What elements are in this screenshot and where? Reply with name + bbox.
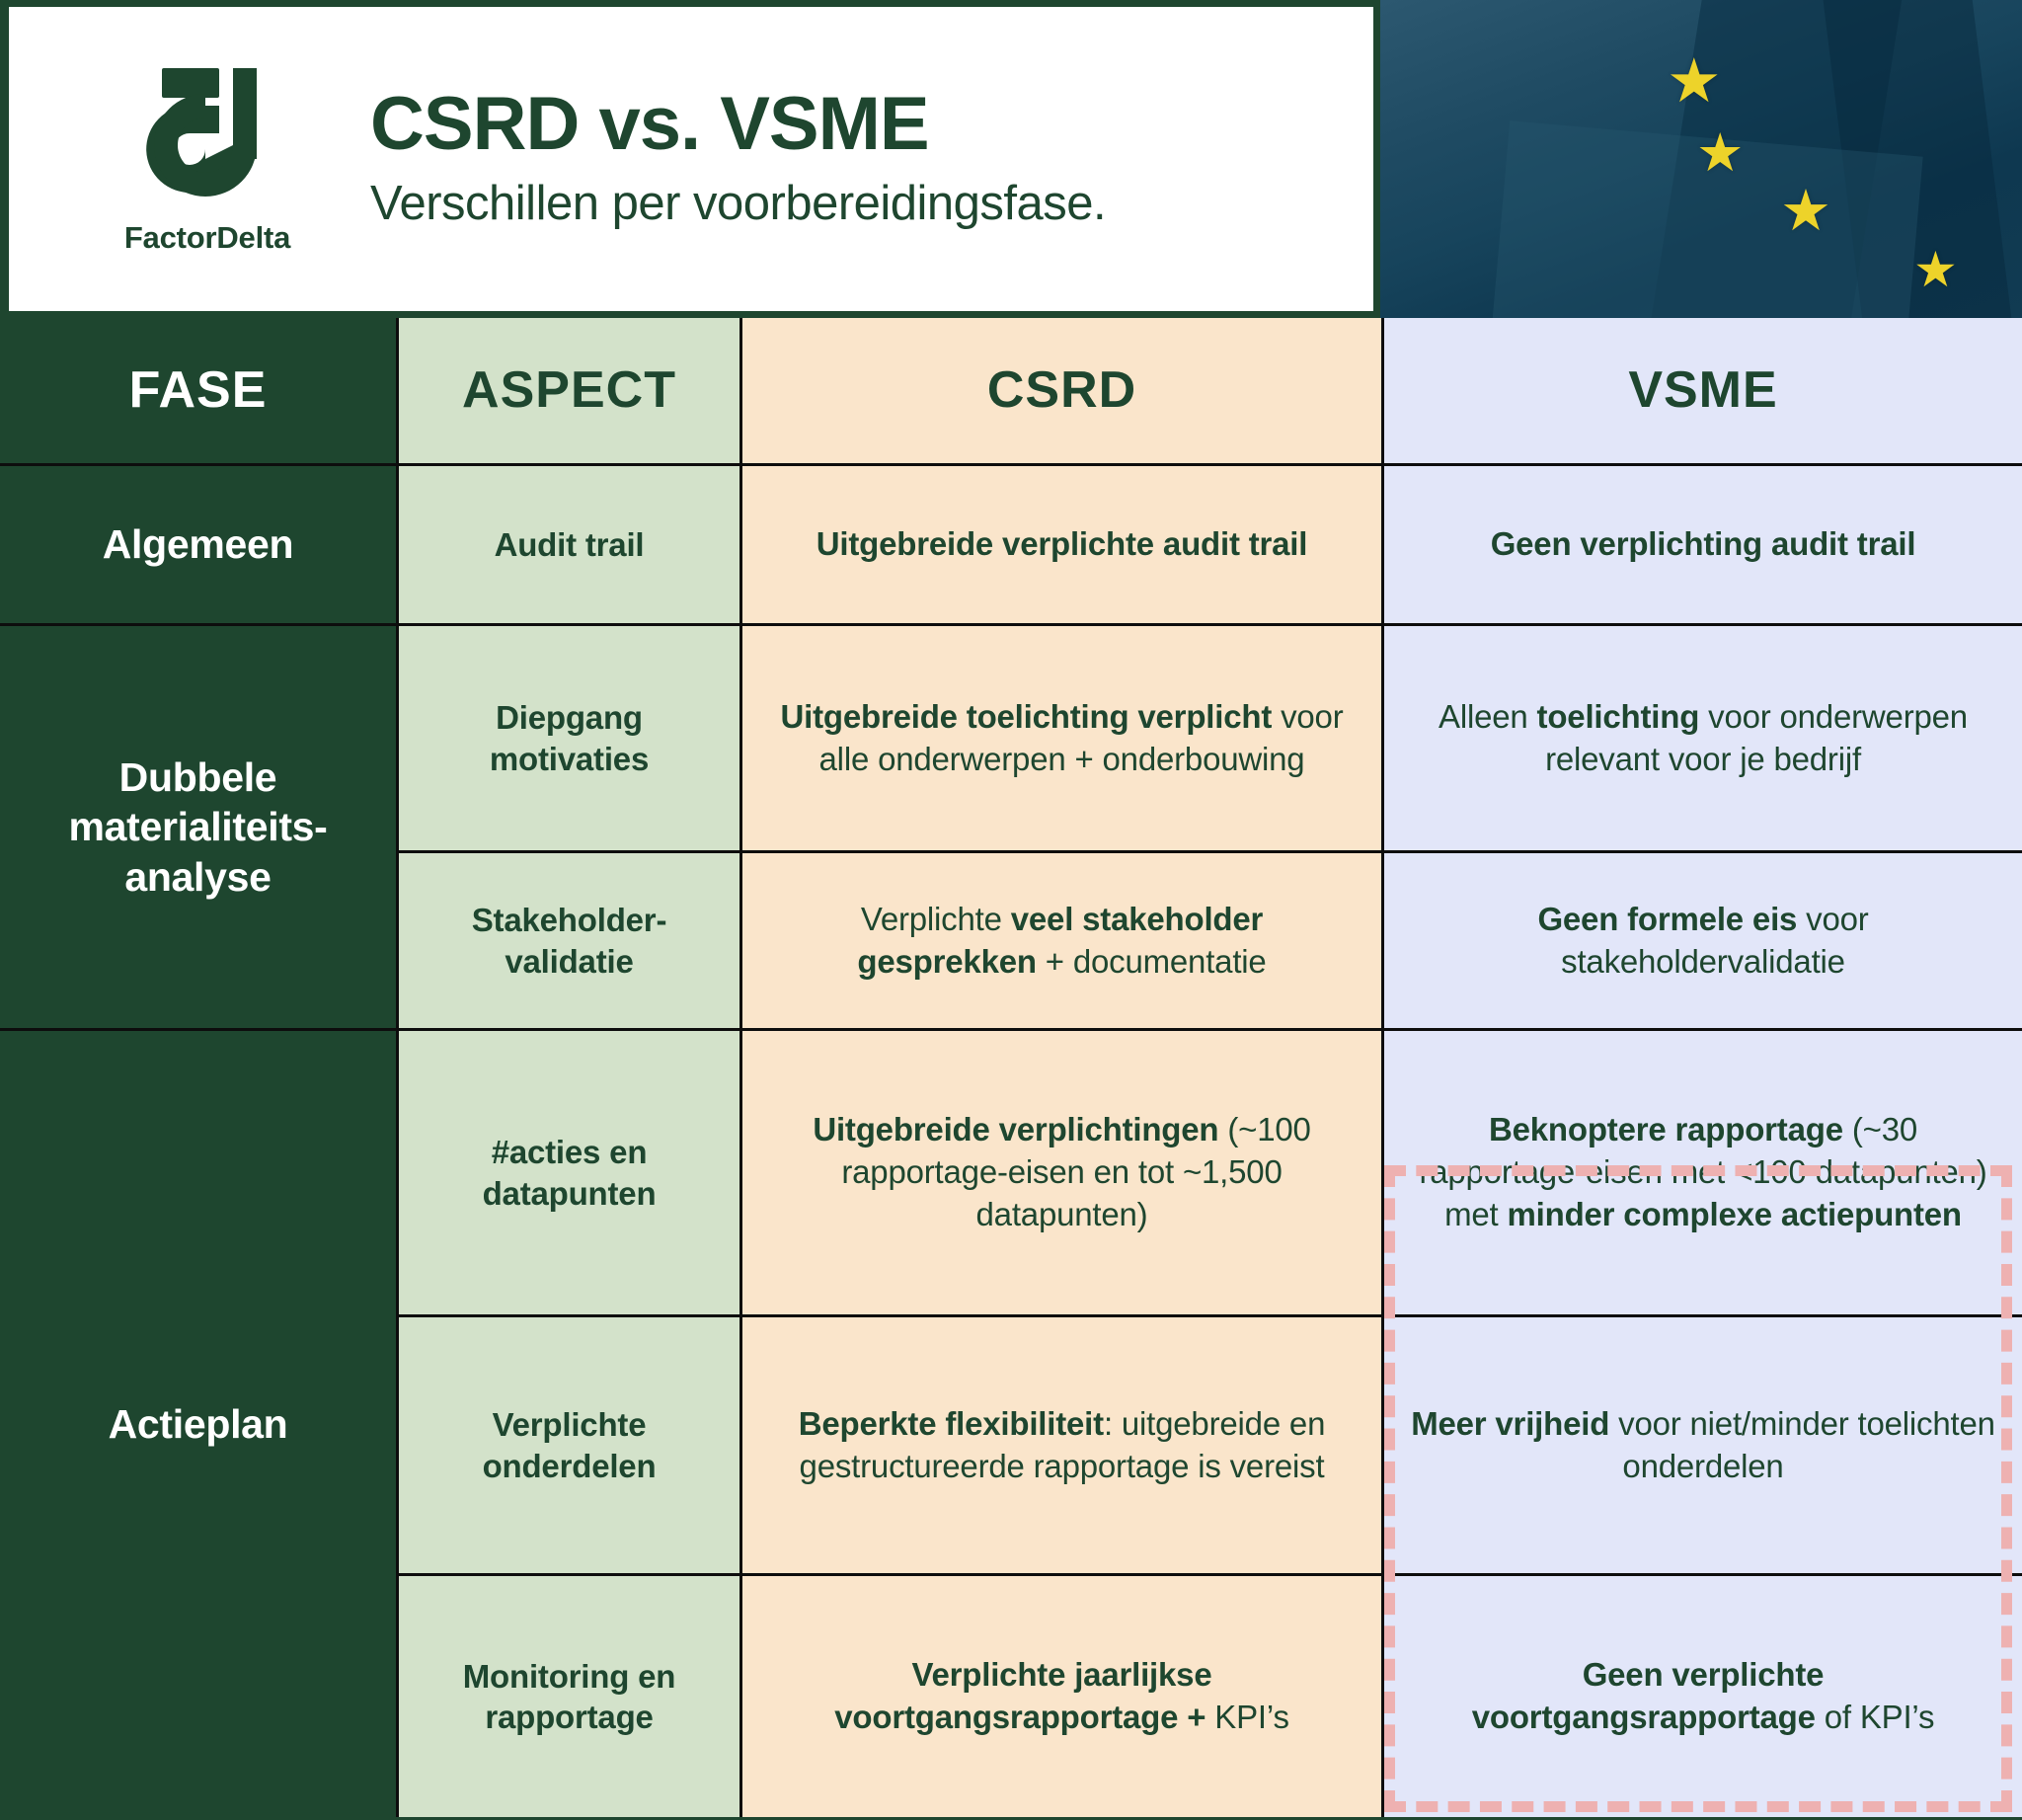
csrd-text: Uitgebreide verplichte audit trail [817, 523, 1307, 566]
aspect-label: Audit trail [495, 524, 645, 565]
phase-label-algemeen: Algemeen [0, 466, 399, 626]
column-header-csrd: CSRD [742, 318, 1384, 466]
csrd-cell: Verplichte veel stakeholder gesprekken +… [742, 853, 1384, 1031]
csrd-cell: Uitgebreide verplichte audit trail [742, 466, 1384, 626]
vsme-cell: Meer vrijheid voor niet/minder toelichte… [1384, 1317, 2022, 1576]
csrd-cell: Uitgebreide toelichting verplicht voor a… [742, 626, 1384, 853]
csrd-text: Uitgebreide verplichtingen (~100 rapport… [768, 1109, 1356, 1236]
brand-name: FactorDelta [124, 220, 290, 256]
aspect-cell: Audit trail [399, 466, 742, 626]
title-block: CSRD vs. VSME Verschillen per voorbereid… [370, 87, 1106, 231]
vsme-cell: Geen verplichte voortgangsrapportage of … [1384, 1576, 2022, 1817]
table-row: Diepgang motivaties Uitgebreide toelicht… [399, 626, 2022, 853]
aspect-cell: Diepgang motivaties [399, 626, 742, 853]
column-header-label: FASE [129, 357, 268, 424]
comparison-table: FASE ASPECT CSRD VSME Algemeen Audit tra… [0, 318, 2022, 1820]
column-header-fase: FASE [0, 318, 399, 466]
csrd-text: Uitgebreide toelichting verplicht voor a… [768, 696, 1356, 781]
brand-block: FactorDelta [104, 62, 311, 256]
column-header-label: VSME [1628, 357, 1777, 424]
phase-label-actieplan: Actieplan [0, 1031, 399, 1817]
column-header-label: ASPECT [462, 357, 676, 424]
eu-star-icon: ★ [1913, 245, 1958, 294]
phase-label-text: Algemeen [103, 519, 294, 569]
table-header-row: FASE ASPECT CSRD VSME [0, 318, 2022, 466]
eu-star-icon: ★ [1667, 51, 1722, 113]
table-row: Audit trail Uitgebreide verplichte audit… [399, 466, 2022, 626]
phase-block-dubbele-materialiteitsanalyse: Dubbele materialiteits-analyse Diepgang … [0, 626, 2022, 1031]
vsme-text: Geen verplichting audit trail [1491, 523, 1916, 566]
header-card: FactorDelta CSRD vs. VSME Verschillen pe… [0, 0, 1380, 318]
aspect-label: Monitoring en rapportage [425, 1656, 714, 1738]
csrd-text: Beperkte flexibiliteit: uitgebreide en g… [768, 1403, 1356, 1488]
vsme-cell: Beknoptere rapportage (~30 rapportage-ei… [1384, 1031, 2022, 1317]
eu-flag-photo: ★ ★ ★ ★ [1380, 0, 2022, 318]
column-header-vsme: VSME [1384, 318, 2022, 466]
aspect-label: Verplichte onderdelen [425, 1404, 714, 1486]
column-header-aspect: ASPECT [399, 318, 742, 466]
table-row: #acties en datapunten Uitgebreide verpli… [399, 1031, 2022, 1317]
csrd-cell: Verplichte jaarlijkse voortgangsrapporta… [742, 1576, 1384, 1817]
csrd-text: Verplichte jaarlijkse voortgangsrapporta… [768, 1654, 1356, 1739]
table-row: Verplichte onderdelen Beperkte flexibili… [399, 1317, 2022, 1576]
header-band: FactorDelta CSRD vs. VSME Verschillen pe… [0, 0, 2022, 318]
phase-block-actieplan: Actieplan #acties en datapunten Uitgebre… [0, 1031, 2022, 1817]
aspect-cell: Stakeholder-validatie [399, 853, 742, 1031]
vsme-cell: Geen formele eis voor stakeholdervalidat… [1384, 853, 2022, 1031]
page-subtitle: Verschillen per voorbereidingsfase. [370, 178, 1106, 231]
vsme-text: Geen formele eis voor stakeholdervalidat… [1410, 899, 1996, 984]
aspect-label: #acties en datapunten [425, 1132, 714, 1214]
phase-label-text: Dubbele materialiteits-analyse [20, 752, 376, 901]
column-header-label: CSRD [987, 357, 1136, 424]
phase-label-dubbele-materialiteitsanalyse: Dubbele materialiteits-analyse [0, 626, 399, 1031]
aspect-label: Stakeholder-validatie [425, 900, 714, 982]
phase-label-text: Actieplan [109, 1399, 288, 1449]
vsme-text: Geen verplichte voortgangsrapportage of … [1410, 1654, 1996, 1739]
vsme-cell: Geen verplichting audit trail [1384, 466, 2022, 626]
aspect-cell: #acties en datapunten [399, 1031, 742, 1317]
csrd-cell: Beperkte flexibiliteit: uitgebreide en g… [742, 1317, 1384, 1576]
table-row: Monitoring en rapportage Verplichte jaar… [399, 1576, 2022, 1817]
vsme-text: Meer vrijheid voor niet/minder toelichte… [1410, 1403, 1996, 1488]
aspect-label: Diepgang motivaties [425, 697, 714, 779]
eu-star-icon: ★ [1696, 126, 1744, 180]
infographic-poster: FactorDelta CSRD vs. VSME Verschillen pe… [0, 0, 2022, 1820]
vsme-cell: Alleen toelichting voor onderwerpen rele… [1384, 626, 2022, 853]
factordelta-d-mark-icon [142, 62, 272, 210]
eu-star-icon: ★ [1780, 183, 1831, 240]
csrd-text: Verplichte veel stakeholder gesprekken +… [768, 899, 1356, 984]
vsme-text: Beknoptere rapportage (~30 rapportage-ei… [1410, 1109, 1996, 1236]
vsme-text: Alleen toelichting voor onderwerpen rele… [1410, 696, 1996, 781]
csrd-cell: Uitgebreide verplichtingen (~100 rapport… [742, 1031, 1384, 1317]
table-row: Stakeholder-validatie Verplichte veel st… [399, 853, 2022, 1031]
aspect-cell: Monitoring en rapportage [399, 1576, 742, 1817]
phase-block-algemeen: Algemeen Audit trail Uitgebreide verplic… [0, 466, 2022, 626]
page-title: CSRD vs. VSME [370, 87, 1106, 162]
aspect-cell: Verplichte onderdelen [399, 1317, 742, 1576]
